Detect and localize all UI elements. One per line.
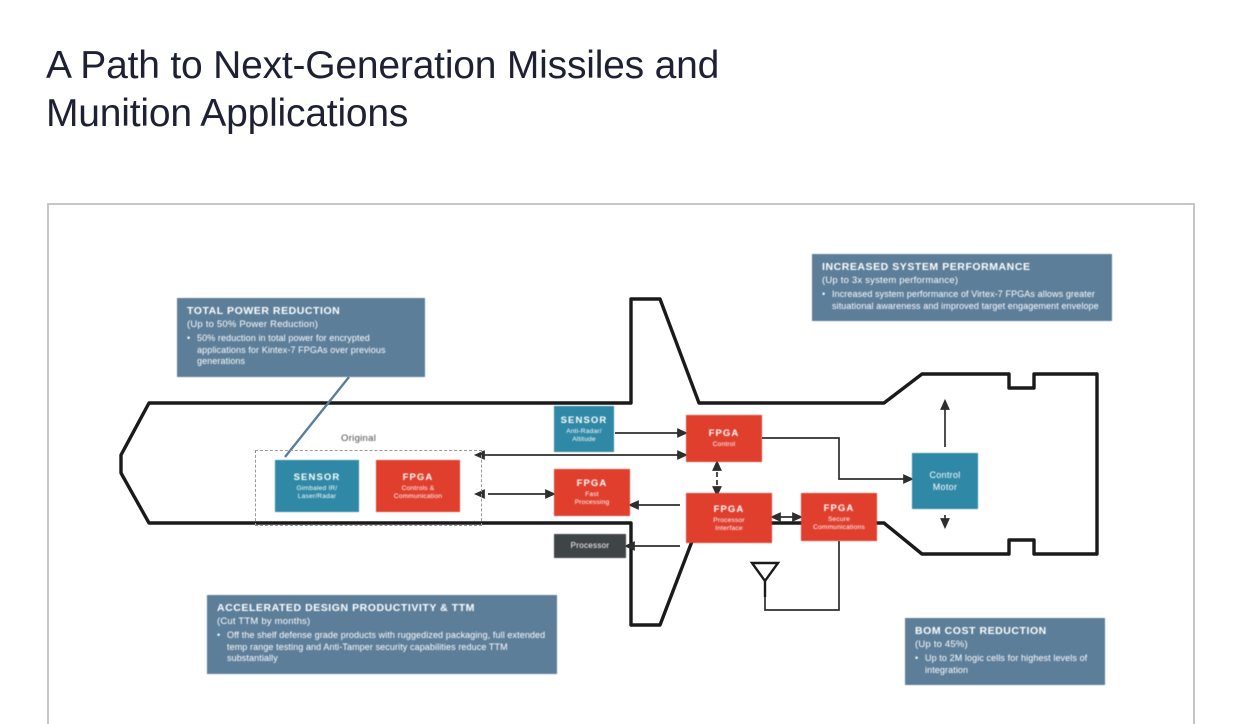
bullet-text: 50% reduction in total power for encrypt… xyxy=(197,333,415,368)
missile-block-diagram: Original SENSOR Gimbaled IR/ Laser/Radar… xyxy=(49,205,1195,724)
bullet-marker: • xyxy=(915,653,925,676)
block-subtitle: Gimbaled IR/ Laser/Radar xyxy=(297,485,338,501)
callout-accelerated-design-productivity: ACCELERATED DESIGN PRODUCTIVITY & TTM (C… xyxy=(207,595,557,674)
block-title: FPGA xyxy=(577,478,608,490)
callout-bom-cost-reduction: BOM COST REDUCTION (Up to 45%) • Up to 2… xyxy=(905,618,1105,685)
block-fpga-control[interactable]: FPGA Control xyxy=(686,415,762,462)
antenna-icon xyxy=(752,563,778,597)
callout-increased-system-performance: INCREASED SYSTEM PERFORMANCE (Up to 3x s… xyxy=(812,254,1112,321)
block-title: SENSOR xyxy=(294,472,341,484)
callout-bullet: • 50% reduction in total power for encry… xyxy=(187,333,415,368)
block-subtitle: Fast Processing xyxy=(575,491,610,507)
block-fpga-secure-communications[interactable]: FPGA Secure Communications xyxy=(801,493,877,541)
block-fpga-fast-processing[interactable]: FPGA Fast Processing xyxy=(554,469,630,516)
block-control-motor[interactable]: Control Motor xyxy=(912,453,978,509)
block-title: FPGA xyxy=(709,428,740,440)
block-sensor-original[interactable]: SENSOR Gimbaled IR/ Laser/Radar xyxy=(275,460,359,512)
callout-subtitle: (Up to 50% Power Reduction) xyxy=(187,319,415,331)
block-title: Processor xyxy=(571,540,610,552)
bullet-text: Increased system performance of Virtex-7… xyxy=(832,289,1102,312)
figure-container: Original SENSOR Gimbaled IR/ Laser/Radar… xyxy=(47,203,1195,724)
block-subtitle: Anti-Radar/ Altitude xyxy=(566,428,602,444)
block-subtitle: Processor Interface xyxy=(713,517,744,533)
original-group-label: Original xyxy=(341,433,376,444)
bullet-marker: • xyxy=(822,289,832,312)
callout-title: ACCELERATED DESIGN PRODUCTIVITY & TTM xyxy=(217,602,547,615)
block-title: Control Motor xyxy=(929,469,960,493)
callout-title: TOTAL POWER REDUCTION xyxy=(187,305,415,318)
callout-total-power-reduction: TOTAL POWER REDUCTION (Up to 50% Power R… xyxy=(177,298,425,377)
callout-bullet: • Increased system performance of Virtex… xyxy=(822,289,1102,312)
block-title: FPGA xyxy=(403,472,434,484)
bullet-text: Off the shelf defense grade products wit… xyxy=(227,630,547,665)
block-sensor-antiradar[interactable]: SENSOR Anti-Radar/ Altitude xyxy=(554,406,614,452)
callout-bullet: • Up to 2M logic cells for highest level… xyxy=(915,653,1095,676)
wire-seccomm-to-antenna xyxy=(765,541,839,610)
bullet-marker: • xyxy=(187,333,197,368)
block-title: SENSOR xyxy=(561,415,608,427)
block-title: FPGA xyxy=(824,503,855,515)
block-subtitle: Controls & Communication xyxy=(394,485,442,501)
callout-title: BOM COST REDUCTION xyxy=(915,625,1095,638)
block-subtitle: Secure Communications xyxy=(813,516,865,532)
bullet-marker: • xyxy=(217,630,227,665)
callout-subtitle: (Up to 3x system performance) xyxy=(822,275,1102,287)
block-subtitle: Control xyxy=(713,441,736,449)
wire-control-to-motor xyxy=(762,438,906,479)
block-fpga-original[interactable]: FPGA Controls & Communication xyxy=(376,460,460,512)
block-title: FPGA xyxy=(714,504,745,516)
callout-subtitle: (Up to 45%) xyxy=(915,639,1095,651)
callout-subtitle: (Cut TTM by months) xyxy=(217,616,547,628)
callout-bullet: • Off the shelf defense grade products w… xyxy=(217,630,547,665)
leader-line-power-callout xyxy=(285,377,349,457)
block-fpga-processor-interface[interactable]: FPGA Processor Interface xyxy=(686,493,772,543)
page-root: A Path to Next-Generation Missiles and M… xyxy=(0,0,1242,724)
bullet-text: Up to 2M logic cells for highest levels … xyxy=(925,653,1095,676)
callout-title: INCREASED SYSTEM PERFORMANCE xyxy=(822,261,1102,274)
page-title: A Path to Next-Generation Missiles and M… xyxy=(46,42,1046,138)
block-processor[interactable]: Processor xyxy=(554,534,626,558)
